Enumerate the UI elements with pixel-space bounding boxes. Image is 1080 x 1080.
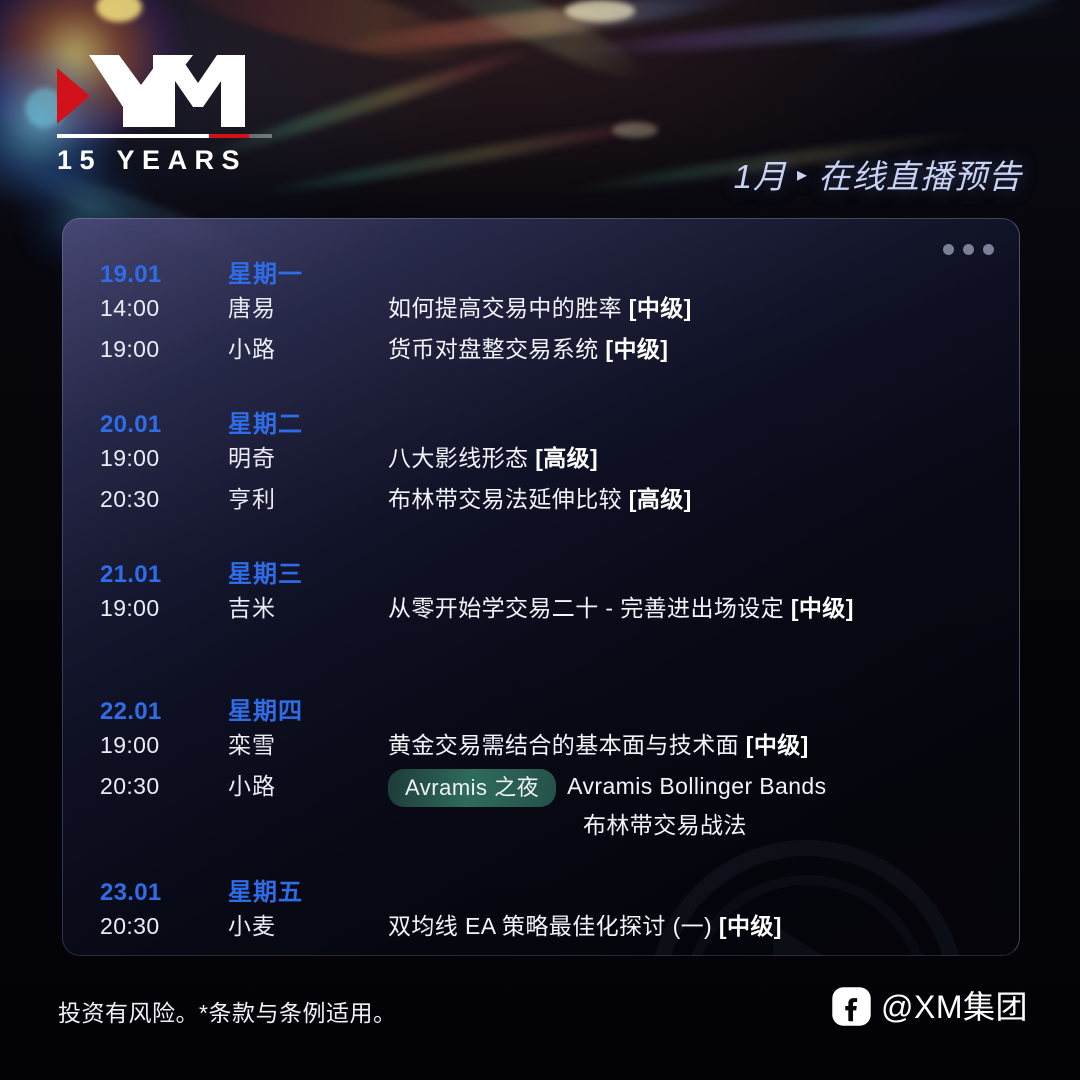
day-date: 19.01 [100, 261, 228, 289]
session-level-tag: [中级] [791, 595, 854, 621]
day-weekday: 星期三 [228, 554, 303, 589]
day-date: 22.01 [100, 698, 228, 726]
session-title-line2: 布林带交易战法 [583, 807, 996, 844]
menu-dot-icon [943, 244, 954, 255]
xm-logo: 15 YEARS [57, 55, 297, 174]
session-row[interactable]: 19:00 吉米 从零开始学交易二十 - 完善进出场设定 [中级] [100, 588, 996, 629]
avramis-night-badge: Avramis 之夜 [388, 769, 556, 807]
session-time: 14:00 [100, 288, 228, 329]
session-time: 19:00 [100, 438, 228, 479]
page-title: 1月 ▸ 在线直播预告 [734, 150, 1022, 198]
session-level-tag: [中级] [605, 336, 668, 362]
session-row[interactable]: 19:00 明奇 八大影线形态 [高级] [100, 438, 996, 479]
session-time: 19:00 [100, 588, 228, 629]
menu-dot-icon [983, 244, 994, 255]
logo-mark [57, 55, 297, 127]
day-weekday: 星期五 [228, 872, 303, 907]
day-date: 21.01 [100, 561, 228, 589]
day-header: 23.01 星期五 [100, 872, 996, 906]
footer: 投资有风险。*条款与条例适用。 @XM集团 [0, 958, 1080, 1080]
day-header: 20.01 星期二 [100, 404, 996, 438]
social-handle-label: @XM集团 [881, 991, 1028, 1023]
disclaimer-text: 投资有风险。*条款与条例适用。 [58, 994, 396, 1028]
light-glow [612, 122, 658, 138]
spacer [100, 844, 996, 872]
session-title: 如何提高交易中的胜率 [中级] [388, 288, 996, 329]
day-date: 23.01 [100, 879, 228, 907]
day-weekday: 星期一 [228, 254, 303, 289]
session-title: 双均线 EA 策略最佳化探讨 (一) [中级] [388, 906, 996, 947]
session-time: 20:30 [100, 479, 228, 520]
card-menu-dots[interactable] [943, 244, 994, 255]
session-host: 栾雪 [228, 725, 388, 766]
chevron-right-icon: ▸ [797, 162, 808, 187]
session-title-line1: Avramis Bollinger Bands [567, 773, 826, 799]
menu-dot-icon [963, 244, 974, 255]
session-title: 从零开始学交易二十 - 完善进出场设定 [中级] [388, 588, 996, 629]
session-host: 小麦 [228, 906, 388, 947]
session-row[interactable]: 19:00 栾雪 黄金交易需结合的基本面与技术面 [中级] [100, 725, 996, 766]
schedule-day-group: 22.01 星期四 19:00 栾雪 黄金交易需结合的基本面与技术面 [中级] … [100, 691, 996, 844]
session-title: 货币对盘整交易系统 [中级] [388, 329, 996, 370]
session-time: 20:30 [100, 906, 228, 947]
session-level-tag: [高级] [535, 445, 598, 471]
day-header: 22.01 星期四 [100, 691, 996, 725]
session-host: 小路 [228, 766, 388, 807]
session-row[interactable]: 20:30 小麦 双均线 EA 策略最佳化探讨 (一) [中级] [100, 906, 996, 947]
spacer [100, 520, 996, 554]
session-host: 亨利 [228, 479, 388, 520]
headline-title: 在线直播预告 [818, 150, 1022, 198]
social-handle-group[interactable]: @XM集团 [831, 986, 1028, 1027]
light-glow [565, 0, 635, 22]
schedule-day-group: 23.01 星期五 20:30 小麦 双均线 EA 策略最佳化探讨 (一) [中… [100, 872, 996, 947]
logo-divider [57, 134, 272, 138]
headline-month: 1月 [734, 150, 787, 198]
logo-anniversary-label: 15 YEARS [57, 147, 297, 174]
day-weekday: 星期二 [228, 404, 303, 439]
session-title: 八大影线形态 [高级] [388, 438, 996, 479]
schedule-card: 19.01 星期一 14:00 唐易 如何提高交易中的胜率 [中级] 19:00… [62, 218, 1020, 956]
session-level-tag: [中级] [629, 295, 692, 321]
spacer [100, 370, 996, 404]
day-date: 20.01 [100, 411, 228, 439]
day-header: 19.01 星期一 [100, 254, 996, 288]
spacer [100, 663, 996, 691]
session-row[interactable]: 20:30 小路 Avramis 之夜Avramis Bollinger Ban… [100, 766, 996, 844]
schedule-day-group: 19.01 星期一 14:00 唐易 如何提高交易中的胜率 [中级] 19:00… [100, 254, 996, 370]
session-row[interactable]: 19:00 小路 货币对盘整交易系统 [中级] [100, 329, 996, 370]
day-weekday: 星期四 [228, 691, 303, 726]
session-title: 黄金交易需结合的基本面与技术面 [中级] [388, 725, 996, 766]
session-level-tag: [中级] [746, 732, 809, 758]
xm-wordmark-icon [87, 55, 287, 127]
spacer [100, 629, 996, 663]
schedule-day-group: 21.01 星期三 19:00 吉米 从零开始学交易二十 - 完善进出场设定 [… [100, 554, 996, 629]
session-row[interactable]: 14:00 唐易 如何提高交易中的胜率 [中级] [100, 288, 996, 329]
session-time: 19:00 [100, 725, 228, 766]
triangle-icon [57, 68, 90, 124]
schedule-list: 19.01 星期一 14:00 唐易 如何提高交易中的胜率 [中级] 19:00… [100, 254, 996, 947]
session-title: 布林带交易法延伸比较 [高级] [388, 479, 996, 520]
session-level-tag: [中级] [719, 913, 782, 939]
facebook-icon[interactable] [831, 986, 872, 1027]
schedule-day-group: 20.01 星期二 19:00 明奇 八大影线形态 [高级] 20:30 亨利 … [100, 404, 996, 520]
session-title: Avramis 之夜Avramis Bollinger Bands布林带交易战法 [388, 766, 996, 844]
session-time: 20:30 [100, 766, 228, 807]
session-host: 唐易 [228, 288, 388, 329]
session-host: 小路 [228, 329, 388, 370]
day-header: 21.01 星期三 [100, 554, 996, 588]
session-host: 吉米 [228, 588, 388, 629]
session-time: 19:00 [100, 329, 228, 370]
session-row[interactable]: 20:30 亨利 布林带交易法延伸比较 [高级] [100, 479, 996, 520]
session-host: 明奇 [228, 438, 388, 479]
session-level-tag: [高级] [629, 486, 692, 512]
